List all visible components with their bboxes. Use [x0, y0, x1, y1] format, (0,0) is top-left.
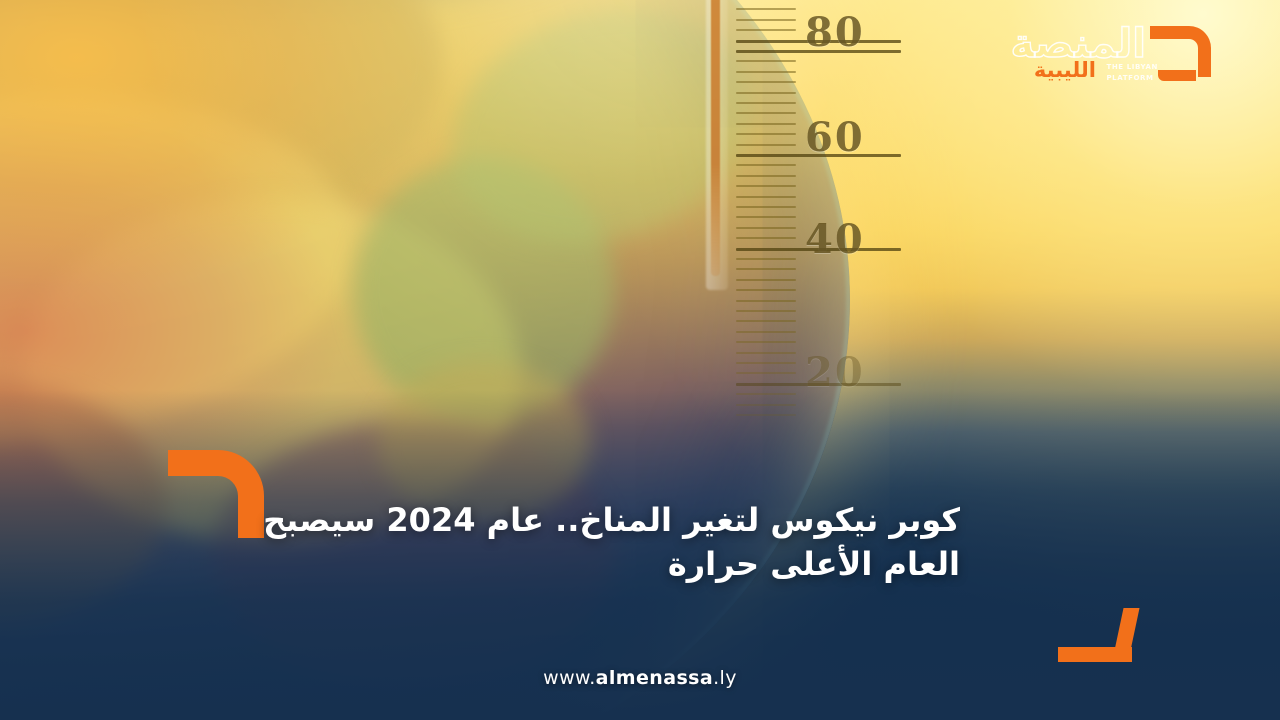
thermometer-minor-tick	[736, 29, 796, 31]
thermometer-icon: 80604020	[700, 0, 940, 420]
thermometer-scale-value: 20	[805, 349, 865, 396]
thermometer-minor-tick	[736, 206, 796, 208]
thermometer-minor-tick	[736, 81, 796, 83]
thermometer-minor-tick	[736, 362, 796, 364]
website-url[interactable]: www.almenassa.ly	[0, 667, 1280, 689]
thermometer-minor-tick	[736, 144, 796, 146]
thermometer-minor-tick	[736, 164, 796, 166]
thermometer-minor-tick	[736, 310, 796, 312]
thermometer-minor-tick	[736, 71, 796, 73]
thermometer-minor-tick	[736, 19, 796, 21]
thermometer-minor-tick	[736, 341, 796, 343]
thermometer-minor-tick	[736, 60, 796, 62]
bracket-horizontal-leg	[1058, 647, 1132, 662]
thermometer-minor-tick	[736, 123, 796, 125]
thermometer-minor-tick	[736, 372, 796, 374]
thermometer-minor-tick	[736, 258, 796, 260]
thermometer-minor-tick	[736, 300, 796, 302]
thermometer-minor-tick	[736, 175, 796, 177]
thermometer-minor-tick	[736, 8, 796, 10]
thermometer-scale-value: 40	[805, 216, 865, 263]
headline-line-2: الأعلى حرارة	[668, 545, 872, 583]
logo-hook-icon	[1142, 26, 1200, 82]
news-graphic-card: 80604020 المنصة الليبية THE LIBYAN PLATF…	[0, 0, 1280, 720]
logo-arabic-subtitle: الليبية	[1034, 60, 1096, 81]
thermometer-minor-tick	[736, 112, 796, 114]
url-brand: almenassa	[596, 667, 713, 689]
thermometer-minor-tick	[736, 92, 796, 94]
thermometer-scale-value: 80	[805, 9, 865, 56]
url-prefix: www.	[543, 667, 596, 689]
thermometer-minor-tick	[736, 289, 796, 291]
brand-logo[interactable]: المنصة الليبية THE LIBYAN PLATFORM	[1012, 22, 1192, 96]
thermometer-minor-tick	[736, 102, 796, 104]
thermometer-minor-tick	[736, 237, 796, 239]
logo-hook-tail	[1158, 70, 1196, 81]
thermometer-minor-tick	[736, 196, 796, 198]
thermometer-minor-tick	[736, 352, 796, 354]
thermometer-minor-tick	[736, 216, 796, 218]
thermometer-mercury	[711, 0, 720, 276]
headline-text: كوبر نيكوس لتغير المناخ.. عام 2024 سيصبح…	[200, 498, 960, 586]
thermometer-minor-tick	[736, 268, 796, 270]
thermometer-minor-tick	[736, 320, 796, 322]
thermometer-minor-tick	[736, 227, 796, 229]
thermometer-minor-tick	[736, 279, 796, 281]
thermometer-minor-tick	[736, 185, 796, 187]
url-suffix: .ly	[713, 667, 737, 689]
thermometer-minor-tick	[736, 133, 796, 135]
thermometer-minor-tick	[736, 331, 796, 333]
thermometer-scale-value: 60	[805, 114, 865, 161]
orange-bracket-bottom-right-icon	[1058, 608, 1140, 662]
